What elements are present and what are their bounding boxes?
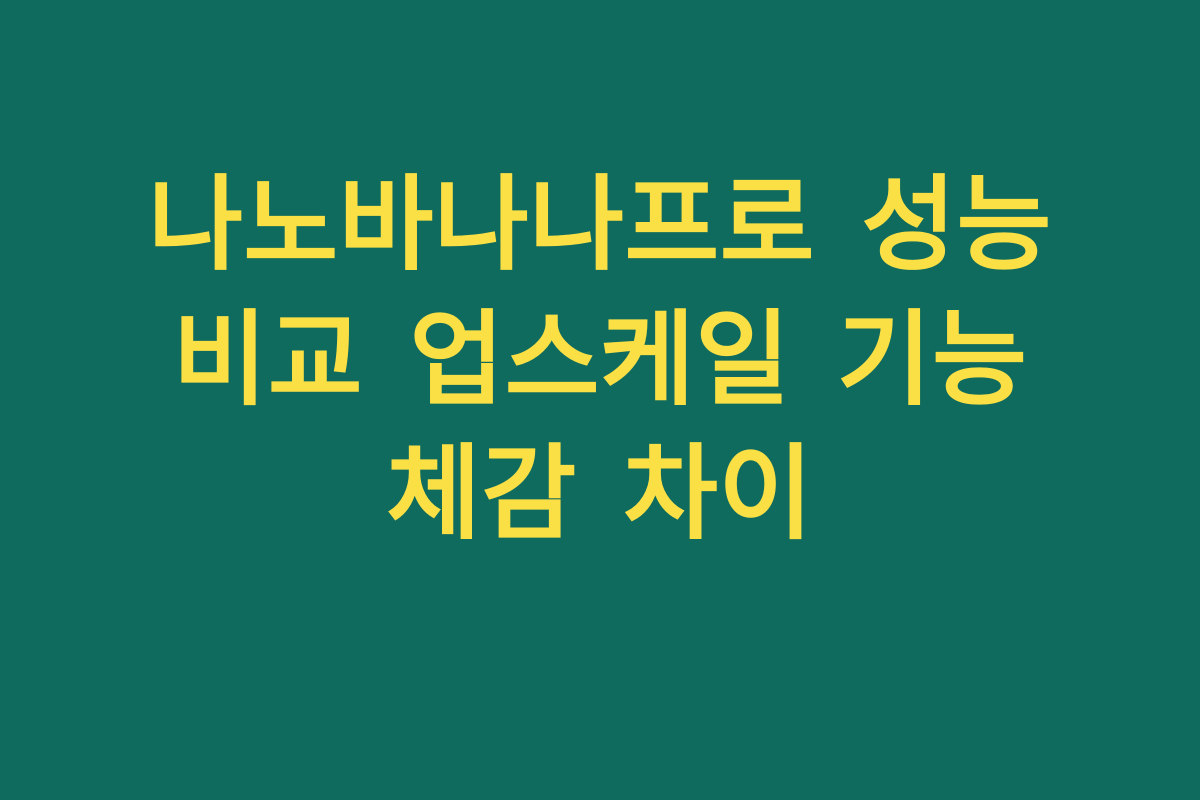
banner-canvas: 나노바나나프로 성능 비교 업스케일 기능 체감 차이 xyxy=(0,0,1200,800)
headline-block: 나노바나나프로 성능 비교 업스케일 기능 체감 차이 xyxy=(85,158,1115,563)
headline-text: 나노바나나프로 성능 비교 업스케일 기능 체감 차이 xyxy=(93,158,1107,563)
